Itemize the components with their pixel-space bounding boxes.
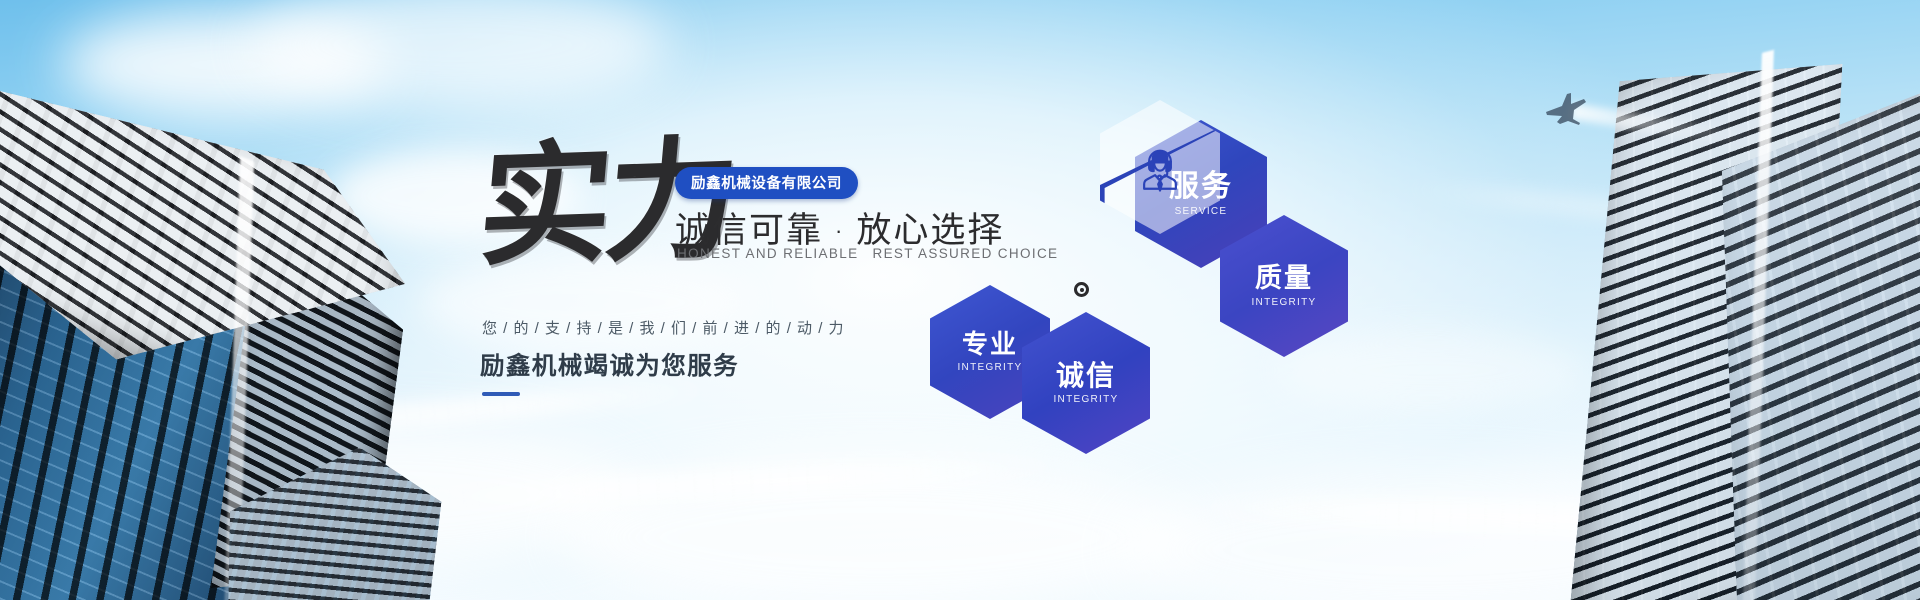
hexagon-quality-cn: 质量 [1255,264,1313,292]
support-tagline: 您 / 的 / 支 / 持 / 是 / 我 / 们 / 前 / 进 / 的 / … [482,317,845,338]
accent-rule-divider [482,392,520,396]
airplane-contrail-decoration [1570,103,1760,149]
company-name-badge: 励鑫机械设备有限公司 [675,167,858,199]
cloud-decoration [60,10,390,120]
slogan-separator: · [823,218,856,243]
slogan-en-left: HONEST AND RELIABLE [677,246,858,261]
hexagon-professional-en: INTEGRITY [957,362,1022,373]
cloud-streak-decoration [1400,178,1820,240]
slogan-left-text: 诚信可靠 [675,211,823,250]
hexagon-credit-cn: 诚信 [1056,361,1116,390]
service-tagline: 励鑫机械竭诚为您服务 [480,347,739,382]
customer-service-agent-icon [1131,138,1189,196]
slogan-en-right: REST ASSURED CHOICE [872,246,1058,261]
cloud-decoration [1120,470,1740,600]
cloud-decoration [250,0,670,110]
airplane-icon [1540,92,1588,126]
cloud-streak-decoration [200,377,720,444]
value-hexagon-cluster: 服务 SERVICE 质量 INTEGRITY 专业 INTEGRITY 诚信 … [1100,100,1430,440]
hero-banner: 实力 励鑫机械设备有限公司 诚信可靠·放心选择 HONEST AND RELIA… [0,0,1920,600]
hexagon-credit-en: INTEGRITY [1053,394,1118,405]
cloud-streak-decoration [1180,494,1820,540]
slogan-english-line: HONEST AND RELIABLEREST ASSURED CHOICE [677,246,1058,261]
hexagon-quality-en: INTEGRITY [1251,297,1316,308]
cloud-streak-decoration [380,452,1080,515]
hexagon-professional-cn: 专业 [962,331,1018,358]
slogan-right-text: 放心选择 [856,211,1004,250]
left-skyscraper-photo [0,60,430,600]
brush-accent-dot-icon [1074,282,1089,297]
